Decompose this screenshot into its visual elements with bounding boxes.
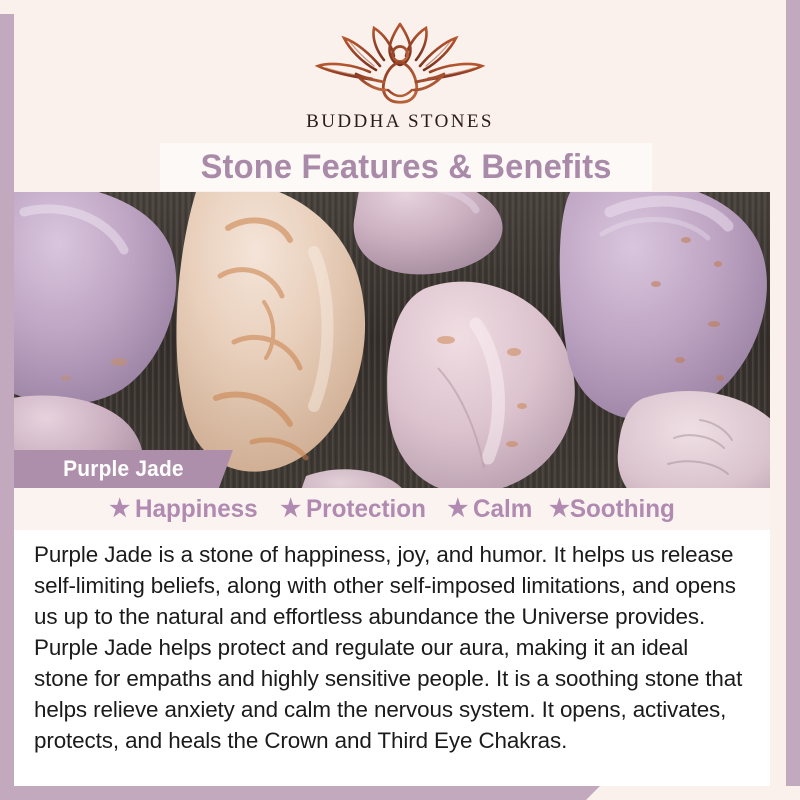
frame-band-left (0, 14, 14, 800)
star-icon: ★ (447, 497, 468, 521)
stone-photo-image (14, 192, 770, 488)
benefit-happiness: ★ Happiness (109, 495, 257, 524)
benefit-label: Soothing (570, 495, 675, 524)
stone-photo (14, 192, 770, 488)
frame-band-right (786, 0, 800, 786)
star-icon: ★ (549, 497, 570, 521)
stone-name-text: Purple Jade (63, 456, 184, 482)
page-title: Stone Features & Benefits (200, 148, 611, 187)
content-panel: ★ Happiness ★ Protection ★ Calm ★ Soothi… (14, 488, 770, 786)
frame-band-bottom (0, 786, 800, 800)
benefit-soothing: ★ Soothing (549, 495, 675, 524)
paragraph-1: Purple Jade is a stone of happiness, joy… (34, 539, 746, 632)
body-copy: Purple Jade is a stone of happiness, joy… (14, 530, 770, 756)
benefit-label: Protection (306, 495, 426, 524)
title-band: Stone Features & Benefits (160, 143, 652, 191)
brand-logo: BUDDHA STONES (14, 22, 786, 131)
benefit-label: Happiness (135, 495, 258, 524)
star-icon: ★ (109, 497, 130, 521)
benefit-calm: ★ Calm (447, 495, 532, 524)
benefit-label: Calm (473, 495, 532, 524)
stone-name-label: Purple Jade (14, 450, 233, 488)
poster-root: BUDDHA STONES Stone Features & Benefits (0, 0, 800, 800)
brand-name: BUDDHA STONES (14, 112, 786, 131)
benefit-protection: ★ Protection (280, 495, 426, 524)
star-icon: ★ (280, 497, 301, 521)
paragraph-2: Purple Jade helps protect and regulate o… (34, 632, 746, 756)
benefits-row: ★ Happiness ★ Protection ★ Calm ★ Soothi… (107, 495, 678, 524)
benefits-strip: ★ Happiness ★ Protection ★ Calm ★ Soothi… (14, 488, 770, 530)
lotus-meditation-figure-icon (312, 22, 488, 110)
